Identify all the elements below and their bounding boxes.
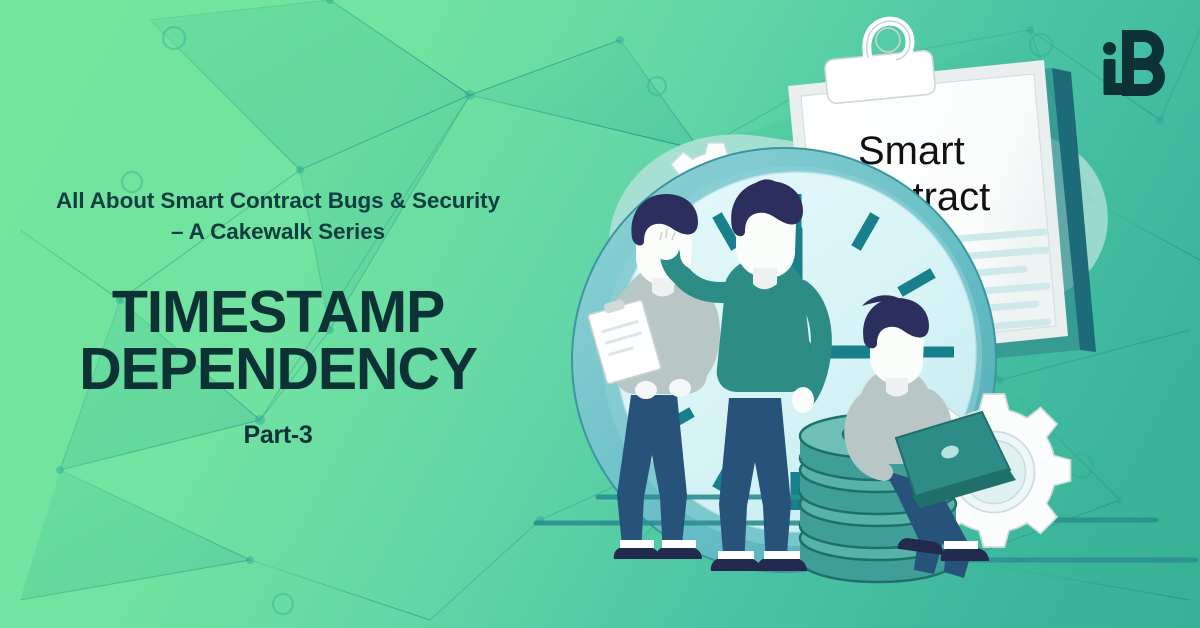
headline-line-1: TIMESTAMP [112, 279, 444, 345]
kicker-line-1: All About Smart Contract Bugs & Security [56, 188, 500, 213]
series-kicker: All About Smart Contract Bugs & Security… [28, 186, 528, 248]
ib-monogram-logo [1096, 24, 1174, 102]
brand-logo[interactable] [1096, 24, 1174, 107]
kicker-line-2: – A Cakewalk Series [171, 219, 385, 244]
part-label: Part-3 [0, 421, 556, 450]
illustration-smart-contract-clock: Smart contract [496, 0, 1200, 628]
clipboard-title-line1: Smart [858, 129, 965, 173]
clipboard-clip-icon [824, 21, 936, 104]
copy-block: All About Smart Contract Bugs & Security… [0, 186, 556, 450]
page-title: TIMESTAMP DEPENDENCY [0, 284, 556, 400]
social-banner: All About Smart Contract Bugs & Security… [0, 0, 1200, 628]
headline-line-2: DEPENDENCY [0, 341, 556, 399]
